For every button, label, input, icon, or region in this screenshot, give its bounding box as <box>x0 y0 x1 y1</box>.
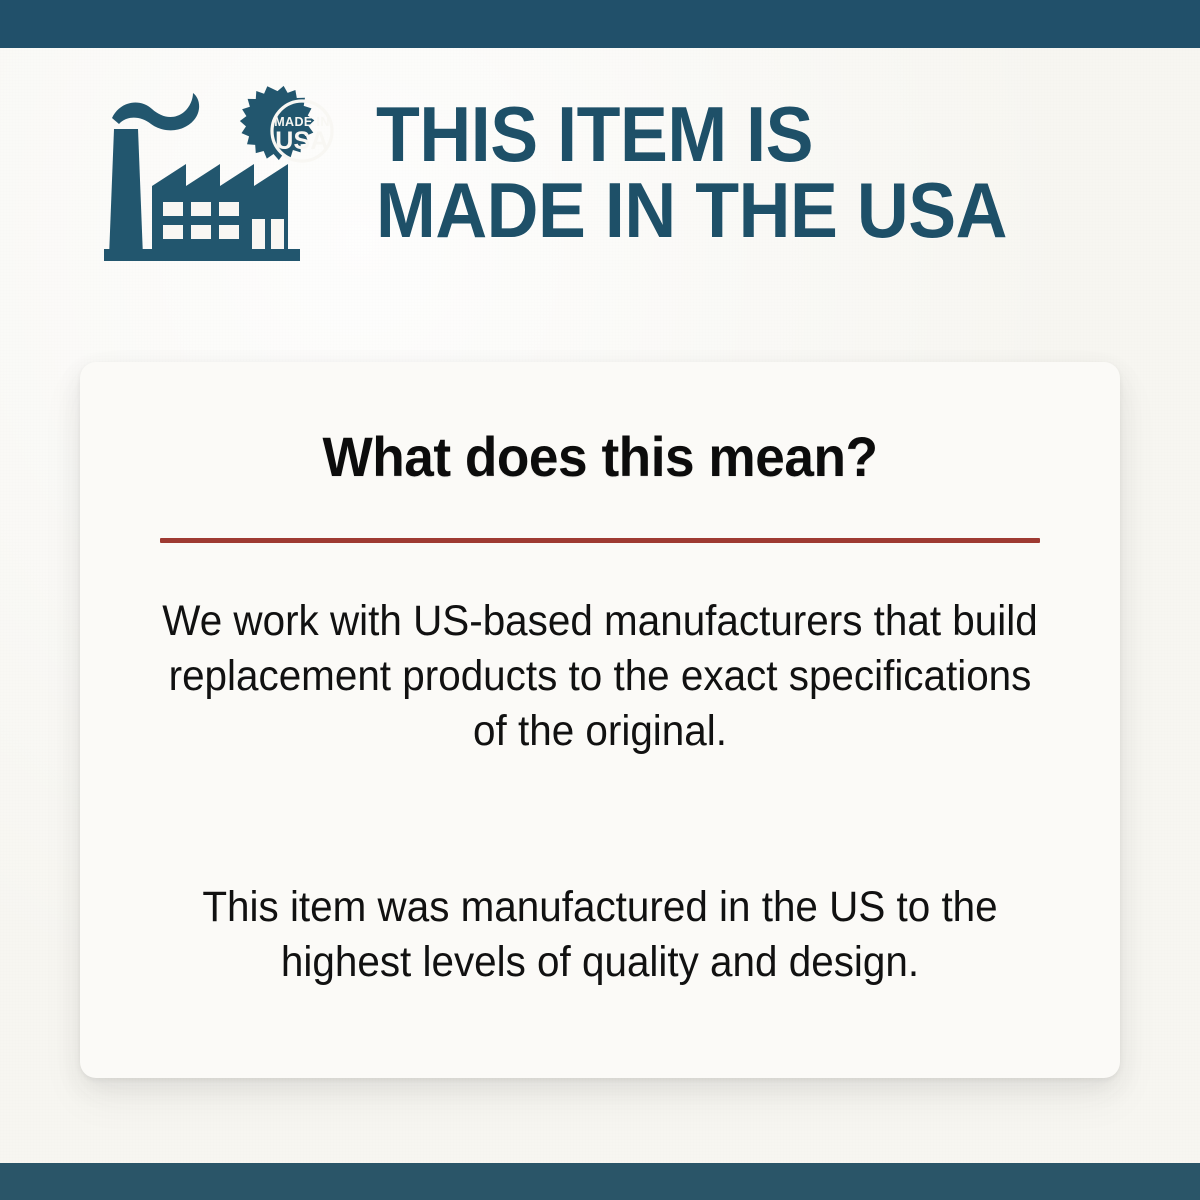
factory-window <box>191 225 211 239</box>
factory-base-shape <box>104 249 300 261</box>
page-title: THIS ITEM IS MADE IN THE USA <box>376 97 1007 248</box>
header: MADE IN USA THIS ITEM IS MADE IN THE USA <box>0 48 1200 298</box>
made-in-usa-seal-icon: MADE IN USA <box>240 86 332 161</box>
card-heading: What does this mean? <box>106 424 1094 489</box>
smoke-plume-icon <box>112 93 199 130</box>
factory-window <box>163 225 183 239</box>
factory-icon: MADE IN USA <box>100 85 340 265</box>
card-paragraph-2: This item was manufactured in the US to … <box>149 880 1051 990</box>
page-root: MADE IN USA THIS ITEM IS MADE IN THE USA… <box>0 0 1200 1200</box>
factory-window <box>219 202 239 216</box>
seal-line2: USA <box>275 127 328 155</box>
factory-door-panel <box>271 219 284 249</box>
top-accent-bar <box>0 0 1200 48</box>
factory-window <box>163 202 183 216</box>
red-rule <box>160 538 1040 543</box>
info-card: What does this mean? We work with US-bas… <box>80 362 1120 1078</box>
smokestack-shape <box>109 129 143 257</box>
page-title-line-2: MADE IN THE USA <box>376 173 1007 249</box>
card-paragraph-1: We work with US-based manufacturers that… <box>149 594 1051 759</box>
factory-window <box>219 225 239 239</box>
page-title-line-1: THIS ITEM IS <box>376 97 1007 173</box>
factory-door-panel <box>252 219 265 249</box>
bottom-accent-bar <box>0 1163 1200 1200</box>
factory-window <box>191 202 211 216</box>
